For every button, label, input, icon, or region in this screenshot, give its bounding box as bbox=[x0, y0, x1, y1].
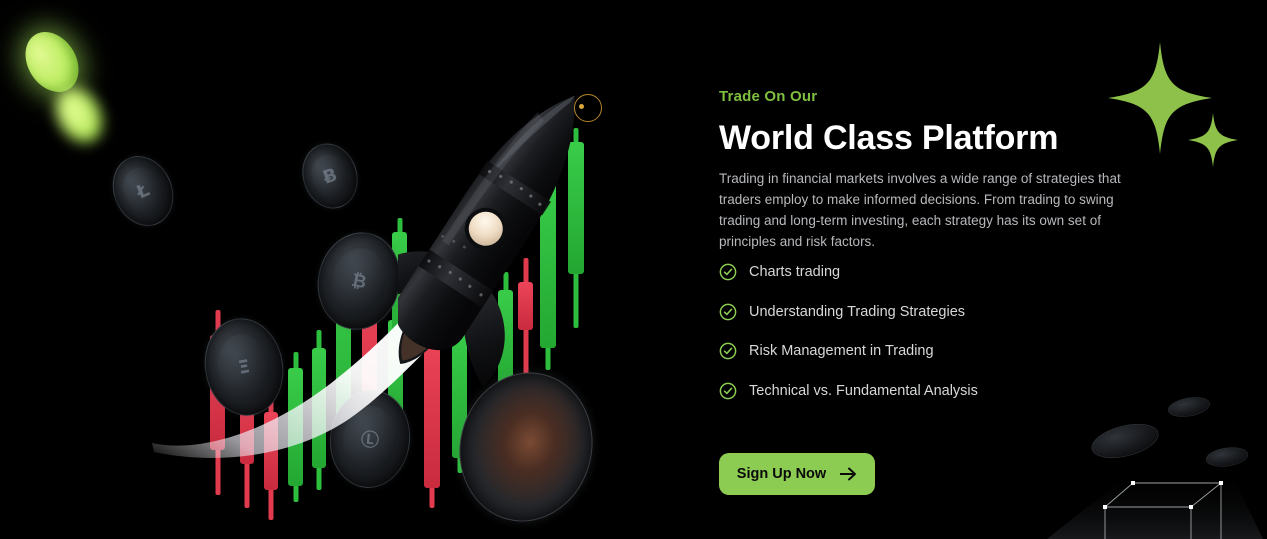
feature-label: Understanding Trading Strategies bbox=[749, 303, 965, 321]
rocket-icon bbox=[398, 64, 578, 394]
ring-dot bbox=[579, 104, 584, 109]
feature-label: Technical vs. Fundamental Analysis bbox=[749, 382, 978, 400]
check-circle-icon bbox=[719, 342, 737, 360]
sign-up-now-label: Sign Up Now bbox=[737, 466, 826, 482]
page-title: World Class Platform bbox=[719, 118, 1058, 158]
decor-coin-right bbox=[1205, 445, 1249, 469]
hero-eyebrow: Trade On Our bbox=[719, 88, 817, 105]
ring-icon bbox=[574, 94, 602, 122]
sparkle-small-icon bbox=[1188, 113, 1238, 167]
coin-face: Ƀ bbox=[306, 150, 353, 202]
hero-description: Trading in financial markets involves a … bbox=[719, 168, 1139, 252]
feature-item: Understanding Trading Strategies bbox=[719, 298, 1139, 326]
arrow-right-icon bbox=[840, 467, 857, 481]
feature-item: Charts trading bbox=[719, 258, 1139, 286]
feature-item: Risk Management in Trading bbox=[719, 337, 1139, 365]
check-circle-icon bbox=[719, 382, 737, 400]
dark-coin-1: Ł bbox=[102, 146, 184, 235]
sign-up-now-button[interactable]: Sign Up Now bbox=[719, 453, 875, 495]
hero-section: ŁɃ₿ΞⓁŦ bbox=[0, 0, 1267, 539]
decor-coin-large bbox=[1088, 418, 1161, 464]
cube-outline-icon bbox=[1037, 379, 1267, 539]
coin-face: Ł bbox=[116, 161, 170, 220]
decor-coin-top bbox=[1167, 394, 1211, 419]
feature-label: Risk Management in Trading bbox=[749, 342, 934, 360]
hero-illustration: ŁɃ₿ΞⓁŦ bbox=[0, 0, 680, 539]
feature-label: Charts trading bbox=[749, 263, 840, 281]
check-circle-icon bbox=[719, 303, 737, 321]
dark-coin-2: Ƀ bbox=[294, 136, 366, 215]
check-circle-icon bbox=[719, 263, 737, 281]
